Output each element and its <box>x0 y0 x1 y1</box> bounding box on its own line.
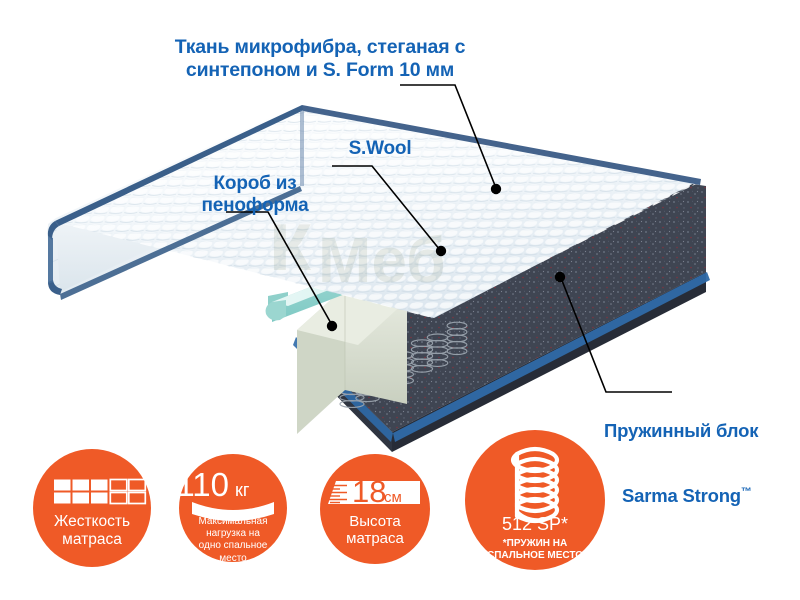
badge-firmness-label: Жесткость матраса <box>33 513 151 548</box>
spring-pocket-cap <box>650 157 660 162</box>
callout-swool: S.Wool <box>300 138 460 160</box>
svg-text:см: см <box>384 489 402 506</box>
spring-pocket-cap <box>673 141 683 146</box>
callout-spring-line1: Пружинный блок <box>604 420 758 441</box>
infographic-canvas: к Меб Ткань микрофибра, стеганая с синте… <box>0 0 800 600</box>
spring-pocket-cap <box>680 145 689 150</box>
svg-text:18: 18 <box>352 474 386 509</box>
badge-height: 18 см Высота матраса <box>320 454 430 564</box>
badge-height-label: Высота матраса <box>320 514 430 548</box>
spring-pocket-cap <box>664 153 673 158</box>
spring-pocket-cap <box>657 161 666 166</box>
callout-fabric: Ткань микрофибра, стеганая с синтепоном … <box>120 36 520 82</box>
spring-pocket-cap <box>690 144 699 149</box>
callout-foam-box: Короб из пеноформа <box>170 173 340 218</box>
trademark-symbol: ™ <box>741 486 752 498</box>
spring-pocket-cap <box>654 153 664 158</box>
badge-springs-label: *ПРУЖИН НА СПАЛЬНОЕ МЕСТО <box>465 538 605 562</box>
spring-pocket <box>679 144 691 178</box>
svg-text:110: 110 <box>179 466 229 503</box>
callout-spring-block: Пружинный блок Sarma Strong™ <box>604 398 794 507</box>
badge-springs-count: 512 SP* *ПРУЖИН НА СПАЛЬНОЕ МЕСТО <box>465 430 605 570</box>
spring-pocket-cap <box>684 141 694 146</box>
spring-pocket-cap <box>677 148 686 153</box>
spring-pocket-cap <box>637 162 647 167</box>
badge-max-load-label: Максимальная нагрузка на одно спальное м… <box>179 516 287 565</box>
spring-pocket <box>689 143 700 175</box>
spring-pocket-cap <box>670 145 680 150</box>
badge-firmness: Жесткость матраса <box>33 449 151 567</box>
firmness-blocks-icon <box>33 449 151 567</box>
spring-pocket-cap <box>667 149 677 154</box>
spring-pocket-cap <box>647 161 656 166</box>
spring-pocket-cap <box>630 158 641 163</box>
spring-pocket-cap <box>643 154 653 159</box>
spring-pocket-cap <box>640 158 650 163</box>
spring-pocket-cap <box>674 152 683 157</box>
spring-pocket <box>672 140 685 176</box>
badge-springs-value: 512 SP* <box>465 514 605 535</box>
spring-pocket-cap <box>660 146 670 151</box>
spring-pocket-cap <box>661 157 670 162</box>
svg-text:кг: кг <box>235 480 250 500</box>
callout-spring-line2: Sarma Strong <box>622 485 741 506</box>
spring-pocket-cap <box>657 150 667 155</box>
svg-text:Меб: Меб <box>318 224 446 296</box>
spring-pocket <box>682 140 694 175</box>
badge-max-load: 110 кг Максимальная нагрузка на одно спа… <box>179 454 287 562</box>
